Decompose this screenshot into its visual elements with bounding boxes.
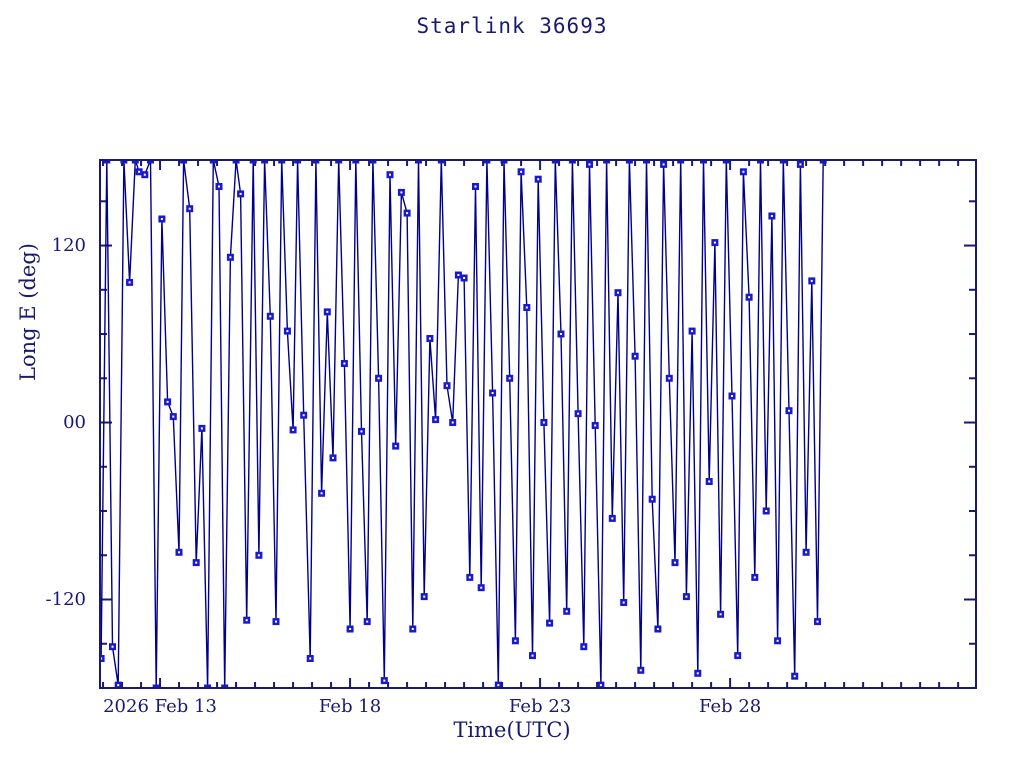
y-tick-label: 120 [0, 235, 86, 256]
plot-area: 12000-120 2026 Feb 13Feb 18Feb 23Feb 28 … [0, 0, 1024, 768]
y-tick-label: 00 [0, 412, 86, 433]
x-tick-label: Feb 23 [430, 696, 650, 717]
plot-svg [0, 0, 1024, 768]
y-axis-title: Long E (deg) [16, 222, 40, 402]
x-tick-label: Feb 28 [620, 696, 840, 717]
x-tick-label: 2026 Feb 13 [50, 696, 270, 717]
y-tick-label: -120 [0, 589, 86, 610]
chart-page: Starlink 36693 12000-120 2026 Feb 13Feb … [0, 0, 1024, 768]
x-axis-title: Time(UTC) [0, 718, 1024, 742]
x-tick-label: Feb 18 [240, 696, 460, 717]
